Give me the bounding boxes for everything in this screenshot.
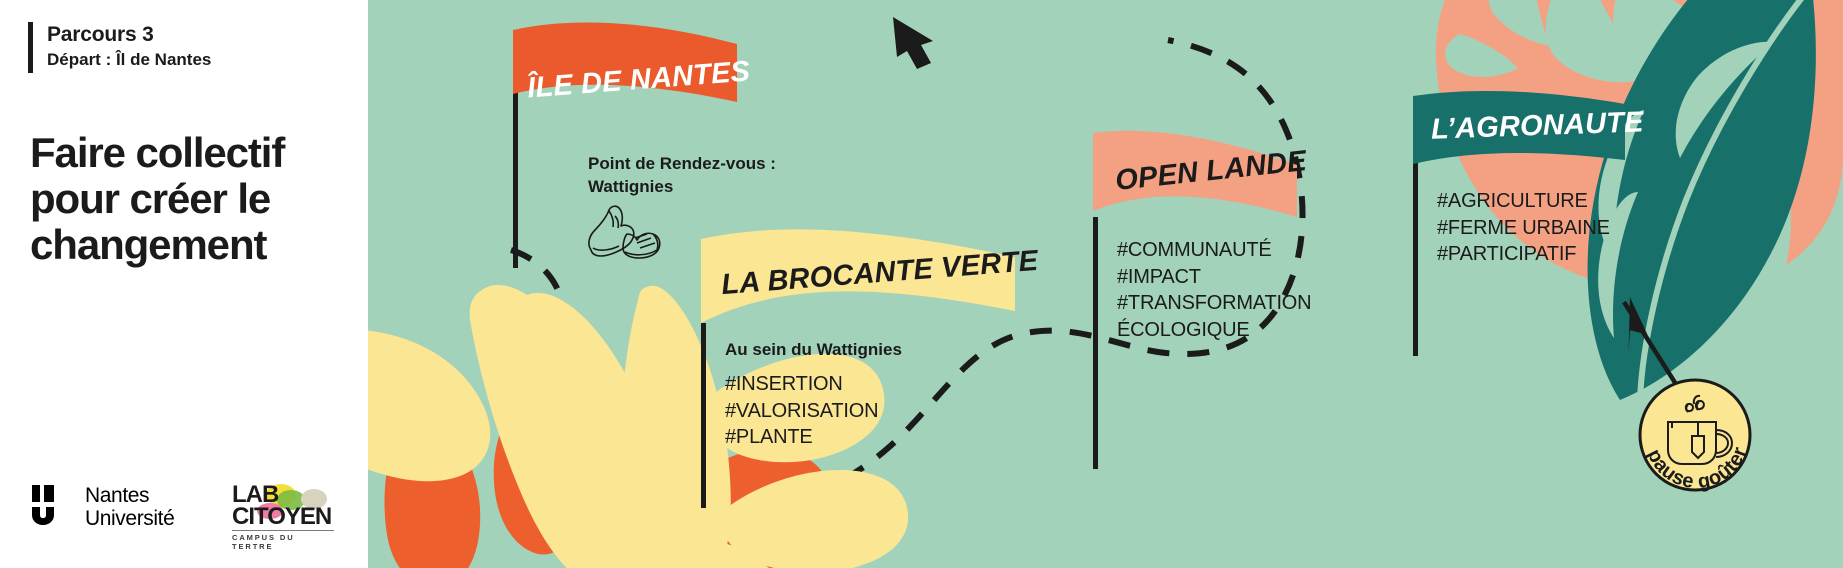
sneaker-icon (585, 204, 663, 262)
tag-item: #VALORISATION (725, 398, 878, 425)
departure-point: Départ : Îl de Nantes (47, 48, 211, 73)
station-tags: #AGRICULTURE #FERME URBAINE #PARTICIPATI… (1437, 188, 1610, 268)
lab-citoyen-line-3: CAMPUS DU TERTRE (232, 530, 334, 551)
station-tags: #COMMUNAUTÉ #IMPACT #TRANSFORMATION ÉCOL… (1117, 237, 1311, 343)
tag-item: #PARTICIPATIF (1437, 241, 1610, 268)
tag-item: #COMMUNAUTÉ (1117, 237, 1311, 264)
flag-pole (701, 323, 706, 508)
logo-line-2: Université (85, 507, 174, 530)
flag-pole (1093, 217, 1098, 469)
nantes-universite-wordmark: Nantes Université (85, 485, 174, 530)
station-subtitle: Au sein du Wattignies (725, 339, 902, 362)
page-title: Faire collectif pour créer le changement (30, 130, 350, 269)
nantes-universite-monogram (32, 485, 76, 530)
parcours-block: Parcours 3 Départ : Îl de Nantes (28, 22, 211, 73)
lab-citoyen-logo: LAB CITOYEN CAMPUS DU TERTRE (232, 484, 334, 551)
tag-item: #FERME URBAINE (1437, 215, 1610, 242)
subtitle-line-1: Point de Rendez-vous : (588, 154, 776, 173)
subtitle-line-2: Wattignies (588, 177, 673, 196)
tag-item: #AGRICULTURE (1437, 188, 1610, 215)
tag-item: #PLANTE (725, 424, 878, 451)
station-subtitle: Point de Rendez-vous : Wattignies (588, 153, 776, 199)
infographic-canvas: Parcours 3 Départ : Îl de Nantes Faire c… (0, 0, 1843, 568)
arrow-head-up-left (893, 17, 933, 69)
lab-citoyen-line-2: CITOYEN (232, 506, 334, 528)
pause-gouter-badge: pause goûter (1636, 376, 1754, 494)
station-tags: #INSERTION #VALORISATION #PLANTE (725, 371, 878, 451)
nantes-universite-logo: Nantes Université (32, 485, 174, 530)
tag-item: #TRANSFORMATION (1117, 290, 1311, 317)
tag-item: ÉCOLOGIQUE (1117, 317, 1311, 344)
tag-item: #INSERTION (725, 371, 878, 398)
title-panel: Parcours 3 Départ : Îl de Nantes Faire c… (0, 0, 368, 568)
parcours-number: Parcours 3 (47, 22, 211, 48)
logo-line-1: Nantes (85, 484, 149, 507)
tag-item: #IMPACT (1117, 264, 1311, 291)
flag-pole (1413, 158, 1418, 356)
